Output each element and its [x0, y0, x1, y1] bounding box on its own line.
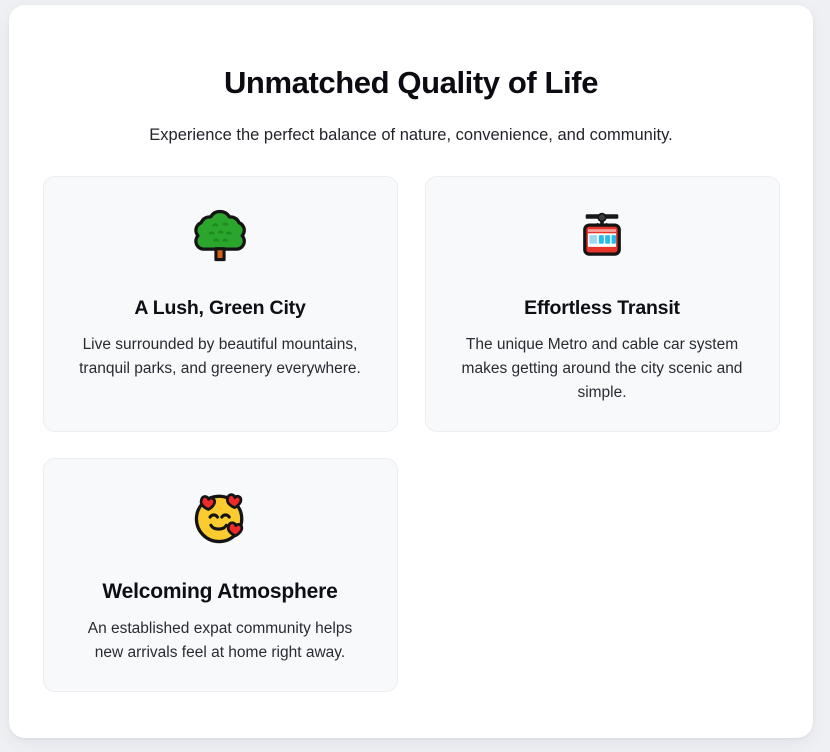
feature-card-green-city[interactable]: A Lush, Green City Live surrounded by be…	[43, 176, 398, 432]
card-description: An established expat community helps new…	[75, 617, 365, 665]
page-title: Unmatched Quality of Life	[9, 65, 813, 102]
section-header: Unmatched Quality of Life Experience the…	[9, 5, 813, 147]
card-title: A Lush, Green City	[134, 297, 305, 320]
deciduous-tree-icon	[191, 207, 249, 265]
feature-card-grid: A Lush, Green City Live surrounded by be…	[43, 176, 780, 693]
section-subtitle: Experience the perfect balance of nature…	[9, 124, 813, 147]
content-surface: Unmatched Quality of Life Experience the…	[9, 5, 813, 738]
feature-card-transit[interactable]: Effortless Transit The unique Metro and …	[425, 176, 780, 432]
card-title: Effortless Transit	[524, 297, 680, 320]
card-description: Live surrounded by beautiful mountains, …	[75, 333, 365, 381]
aerial-tramway-icon	[573, 207, 631, 265]
card-title: Welcoming Atmosphere	[102, 579, 337, 604]
smiling-face-with-hearts-icon	[191, 489, 249, 547]
feature-card-welcome[interactable]: Welcoming Atmosphere An established expa…	[43, 458, 398, 692]
card-description: The unique Metro and cable car system ma…	[448, 333, 757, 405]
